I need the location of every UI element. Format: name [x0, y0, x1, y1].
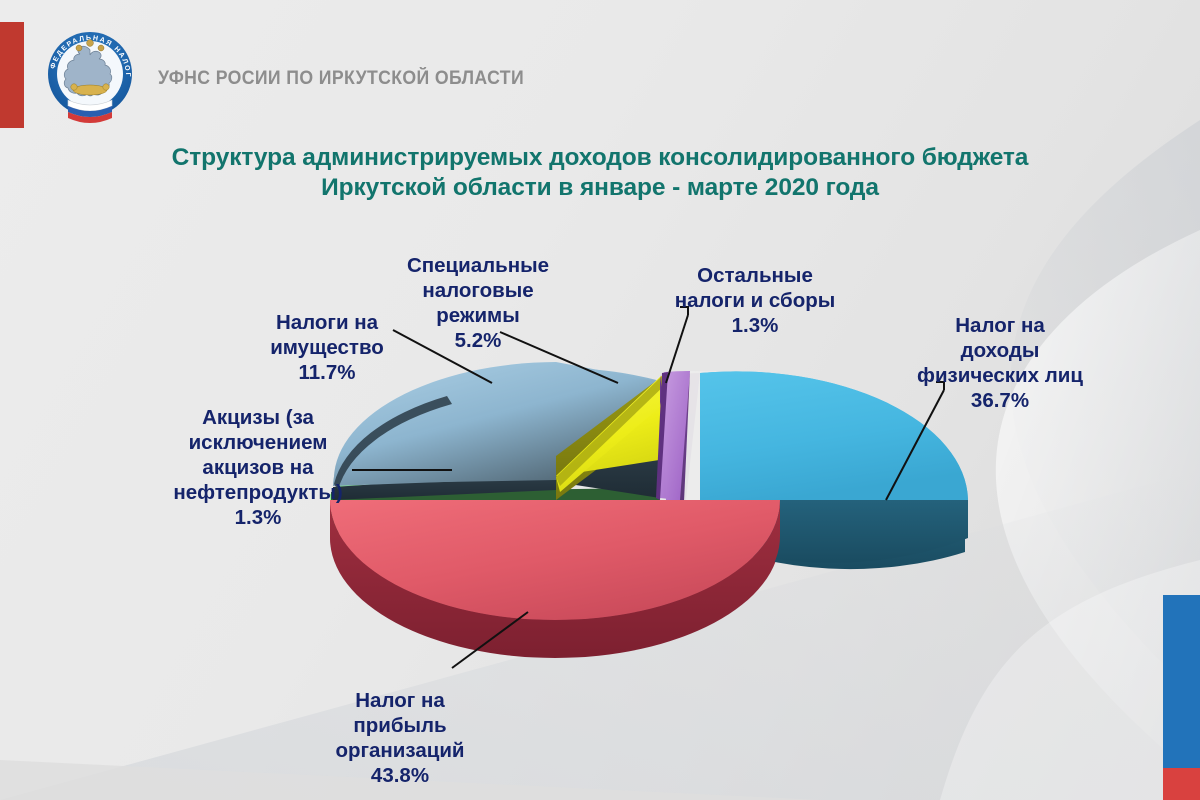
- callout-text-other-taxes: Остальные налоги и сборы: [675, 264, 836, 312]
- callout-text-property-tax: Налоги на имущество: [270, 311, 384, 359]
- callout-value-personal-income-tax: 36.7%: [880, 388, 1120, 413]
- callout-text-personal-income-tax: Налог на доходы физических лиц: [917, 314, 1083, 387]
- callout-text-special-regimes: Специальные налоговые режимы: [407, 254, 549, 327]
- callout-value-excise: 1.3%: [150, 505, 366, 530]
- callout-value-profit-tax: 43.8%: [300, 763, 500, 788]
- callout-text-excise: Акцизы (за исключением акцизов на нефтеп…: [173, 406, 342, 504]
- callout-value-other-taxes: 1.3%: [640, 313, 870, 338]
- callout-label-personal-income-tax: Налог на доходы физических лиц 36.7%: [880, 288, 1120, 438]
- callout-label-other-taxes: Остальные налоги и сборы 1.3%: [640, 238, 870, 363]
- callout-label-excise: Акцизы (за исключением акцизов на нефтеп…: [150, 380, 366, 555]
- corner-flag-bar-red: [1163, 768, 1200, 800]
- callout-label-profit-tax: Налог на прибыль организаций 43.8%: [300, 663, 500, 800]
- slide-canvas: ФЕДЕРАЛЬНАЯ НАЛОГОВАЯ СЛУЖБА: [0, 0, 1200, 800]
- callout-text-profit-tax: Налог на прибыль организаций: [335, 689, 464, 762]
- corner-flag-bar: [1163, 595, 1200, 800]
- corner-flag-bar-blue: [1163, 595, 1200, 768]
